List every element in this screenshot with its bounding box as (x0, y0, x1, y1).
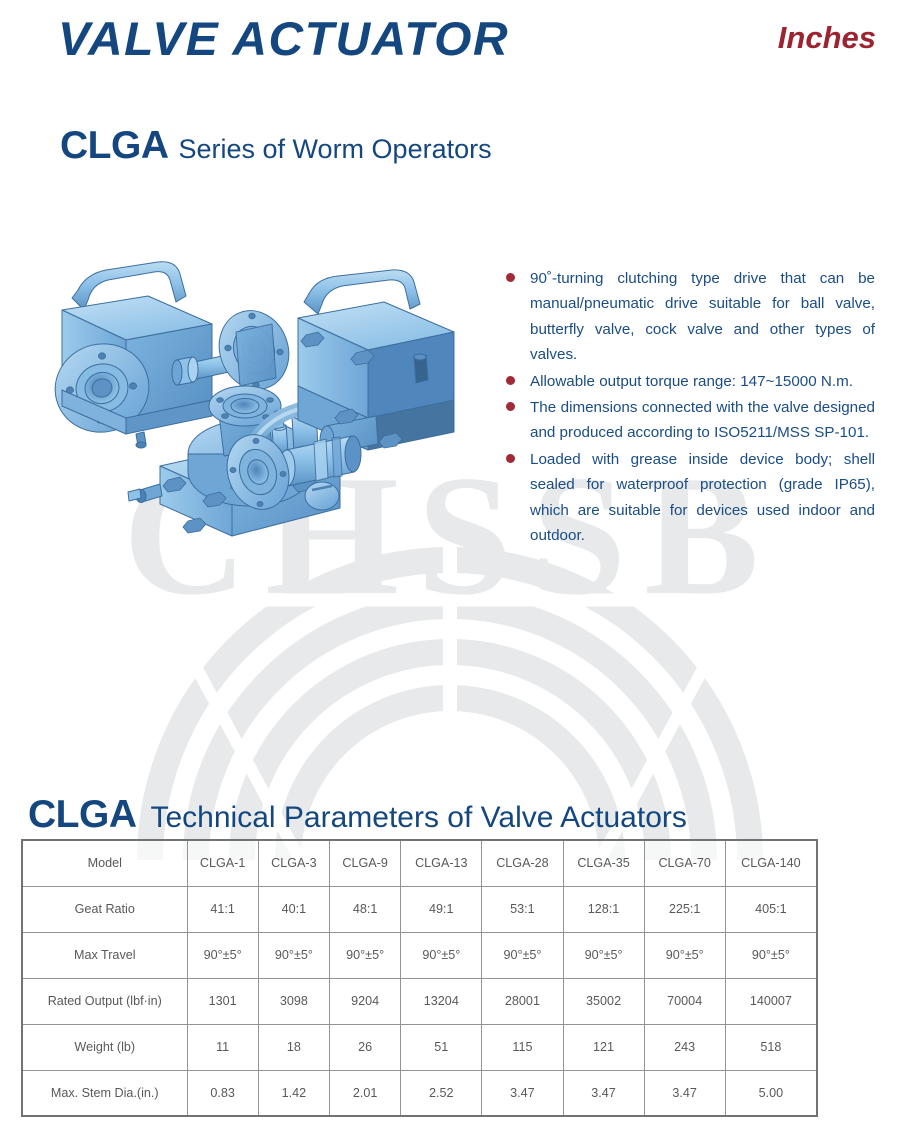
table-cell: 2.52 (401, 1070, 482, 1116)
list-item: 90˚-turning clutching type drive that ca… (500, 266, 875, 368)
table-cell: 90°±5° (330, 932, 401, 978)
table-cell: 1301 (187, 978, 258, 1024)
table-cell: 3.47 (482, 1070, 563, 1116)
column-header: CLGA-28 (482, 840, 563, 886)
feature-text: 90˚-turning clutching type drive that ca… (530, 266, 875, 368)
table-row: Rated Output (lbf·in) 1301 3098 9204 132… (22, 978, 817, 1024)
table-heading: CLGATechnical Parameters of Valve Actuat… (28, 793, 687, 837)
row-label: Geat Ratio (22, 886, 187, 932)
bullet-icon (506, 376, 515, 385)
table-cell: 49:1 (401, 886, 482, 932)
feature-text: Loaded with grease inside device body; s… (530, 447, 875, 549)
table-cell: 90°±5° (482, 932, 563, 978)
table-cell: 90°±5° (725, 932, 817, 978)
table-cell: 225:1 (644, 886, 725, 932)
table-cell: 115 (482, 1024, 563, 1070)
table-cell: 48:1 (330, 886, 401, 932)
table-title: Technical Parameters of Valve Actuators (151, 801, 687, 834)
table-cell: 3.47 (644, 1070, 725, 1116)
feature-list: 90˚-turning clutching type drive that ca… (500, 266, 875, 549)
table-cell: 40:1 (258, 886, 329, 932)
table-cell: 26 (330, 1024, 401, 1070)
table-cell: 0.83 (187, 1070, 258, 1116)
table-cell: 3.47 (563, 1070, 644, 1116)
table-cell: 9204 (330, 978, 401, 1024)
column-header: CLGA-70 (644, 840, 725, 886)
table-cell: 70004 (644, 978, 725, 1024)
page-title: VALVE ACTUATOR (58, 11, 509, 66)
column-header: CLGA-9 (330, 840, 401, 886)
series-subtitle: Series of Worm Operators (179, 134, 492, 164)
table-cell: 13204 (401, 978, 482, 1024)
actuator-illustration (40, 240, 490, 540)
column-header-model: Model (22, 840, 187, 886)
table-cell: 121 (563, 1024, 644, 1070)
column-header: CLGA-35 (563, 840, 644, 886)
bullet-icon (506, 402, 515, 411)
table-cell: 243 (644, 1024, 725, 1070)
series-code: CLGA (60, 124, 169, 167)
table-cell: 3098 (258, 978, 329, 1024)
table-cell: 518 (725, 1024, 817, 1070)
table-row: Max Travel 90°±5° 90°±5° 90°±5° 90°±5° 9… (22, 932, 817, 978)
table-cell: 90°±5° (563, 932, 644, 978)
table-cell: 2.01 (330, 1070, 401, 1116)
feature-text: Allowable output torque range: 147~15000… (530, 369, 875, 394)
table-row: Max. Stem Dia.(in.) 0.83 1.42 2.01 2.52 … (22, 1070, 817, 1116)
table-cell: 1.42 (258, 1070, 329, 1116)
table-cell: 51 (401, 1024, 482, 1070)
row-label: Max Travel (22, 932, 187, 978)
table-series-code: CLGA (28, 793, 137, 836)
table-cell: 128:1 (563, 886, 644, 932)
feature-text: The dimensions connected with the valve … (530, 395, 875, 446)
table-cell: 90°±5° (258, 932, 329, 978)
table-cell: 90°±5° (401, 932, 482, 978)
row-label: Max. Stem Dia.(in.) (22, 1070, 187, 1116)
column-header: CLGA-140 (725, 840, 817, 886)
column-header: CLGA-1 (187, 840, 258, 886)
bullet-icon (506, 273, 515, 282)
table-cell: 11 (187, 1024, 258, 1070)
list-item: The dimensions connected with the valve … (500, 395, 875, 446)
table-cell: 5.00 (725, 1070, 817, 1116)
table-cell: 18 (258, 1024, 329, 1070)
specifications-table: Model CLGA-1 CLGA-3 CLGA-9 CLGA-13 CLGA-… (21, 839, 818, 1117)
table-cell: 35002 (563, 978, 644, 1024)
series-heading: CLGASeries of Worm Operators (60, 124, 492, 168)
column-header: CLGA-13 (401, 840, 482, 886)
datasheet-page: CHSSB VALVE ACTUATOR Inches CLGASeries o… (0, 0, 900, 1136)
table-cell: 140007 (725, 978, 817, 1024)
table-body: Model CLGA-1 CLGA-3 CLGA-9 CLGA-13 CLGA-… (22, 840, 817, 1116)
table-row: Weight (lb) 11 18 26 51 115 121 243 518 (22, 1024, 817, 1070)
table-cell: 90°±5° (187, 932, 258, 978)
bullet-icon (506, 454, 515, 463)
row-label: Rated Output (lbf·in) (22, 978, 187, 1024)
table-cell: 90°±5° (644, 932, 725, 978)
unit-label: Inches (778, 20, 876, 56)
table-row: Geat Ratio 41:1 40:1 48:1 49:1 53:1 128:… (22, 886, 817, 932)
product-image (40, 240, 490, 540)
table-cell: 28001 (482, 978, 563, 1024)
table-cell: 41:1 (187, 886, 258, 932)
table-header-row: Model CLGA-1 CLGA-3 CLGA-9 CLGA-13 CLGA-… (22, 840, 817, 886)
row-label: Weight (lb) (22, 1024, 187, 1070)
table-cell: 53:1 (482, 886, 563, 932)
table-cell: 405:1 (725, 886, 817, 932)
column-header: CLGA-3 (258, 840, 329, 886)
list-item: Loaded with grease inside device body; s… (500, 447, 875, 549)
list-item: Allowable output torque range: 147~15000… (500, 369, 875, 394)
